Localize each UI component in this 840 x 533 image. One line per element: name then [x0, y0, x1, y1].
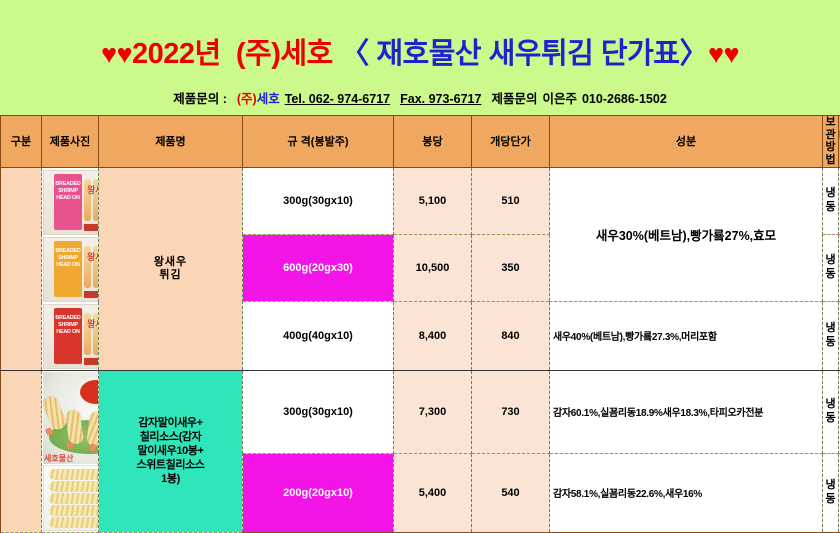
heart-icon: ♥: [723, 39, 739, 69]
cell-product-name-group2: 감자말이새우+ 칠리소스(감자 말이새우10봉+ 스위트칠리소스 1봉): [99, 370, 243, 532]
column-header-unit-price: 개당단가: [472, 116, 550, 168]
contact-tel: Tel. 062- 974-6717: [285, 92, 390, 106]
pack-label-line1: BREADED: [55, 181, 80, 187]
product-name-line4: 스위트칠리소스: [99, 458, 242, 472]
product-name-line1: 감자말이새우+: [99, 416, 242, 430]
product-name-line2: 칠리소스(감자: [99, 430, 242, 444]
product-image-packaged-tray: [43, 465, 99, 531]
pack-korean-text: 왕새우: [87, 183, 99, 196]
column-header-ingredients: 성분: [550, 116, 823, 168]
page-title: ♥♥2022년 (주)세호 〈 재호물산 새우튀김 단가표〉♥♥: [0, 30, 840, 72]
chili-sauce-bowl: [77, 377, 99, 407]
pack-label: BREADED SHRIMP HEAD ON: [54, 174, 82, 230]
pack-label-line3: HEAD ON: [56, 195, 79, 201]
contact-company-name: 세호: [257, 92, 280, 106]
header-row: 구분 제품사진 제품명 규 격(봉발주) 봉당 개당단가 성분 보관 방법 HA…: [1, 116, 840, 168]
price-table: 구분 제품사진 제품명 규 격(봉발주) 봉당 개당단가 성분 보관 방법 HA…: [0, 115, 840, 533]
cell-bongdang: 5,100: [394, 167, 472, 234]
column-header-gubun: 구분: [1, 116, 42, 168]
pack-stripe: [84, 224, 99, 231]
product-image-pack-pink: BREADED SHRIMP HEAD ON: [43, 170, 99, 235]
product-image-plated-dish: 세호물산: [43, 372, 99, 464]
cell-ingredients: 감자60.1%,실꾬리동18.9%새우18.3%,타피오카전분: [550, 370, 823, 453]
cell-bongdang: 7,300: [394, 370, 472, 453]
cell-storage: 냉동: [823, 370, 839, 453]
column-header-storage: 보관 방법: [823, 116, 839, 168]
cell-photo-group2: 세호물산: [42, 370, 99, 532]
header-banner: ♥♥2022년 (주)세호 〈 재호물산 새우튀김 단가표〉♥♥ 제품문의 :(…: [0, 0, 840, 115]
pack-label: BREADED SHRIMP HEAD ON: [54, 241, 82, 297]
price-list-page: ♥♥2022년 (주)세호 〈 재호물산 새우튀김 단가표〉♥♥ 제품문의 :(…: [0, 0, 840, 496]
cell-storage: 냉동: [823, 302, 839, 370]
contact-mobile: 010-2686-1502: [582, 92, 667, 106]
cell-unit-price: 840: [472, 302, 550, 370]
contact-label: 제품문의 :: [173, 92, 227, 106]
pack-stripe: [84, 291, 99, 298]
contact-fax: Fax. 973-6717: [400, 92, 481, 106]
contact-person: 이은주: [542, 92, 577, 106]
cell-storage: 냉동: [823, 234, 839, 301]
pack-label-line1: BREADED: [55, 315, 80, 321]
contact-company-prefix: (주): [237, 92, 257, 106]
cell-product-name-group1: 왕새우 튀김: [99, 167, 243, 370]
cell-ingredients: 새우30%(베트남),빵가룤27%,효모: [550, 167, 823, 302]
cell-spec: 400g(40gx10): [243, 302, 394, 370]
cell-unit-price: 350: [472, 234, 550, 301]
pack-label-line2: SHRIMP: [58, 188, 78, 194]
cell-ingredients: 새우40%(베트남),빵가룤27.3%,머리포함: [550, 302, 823, 370]
heart-icon: ♥: [117, 39, 133, 69]
cell-unit-price: 730: [472, 370, 550, 453]
column-header-bongdang: 봉당: [394, 116, 472, 168]
product-name-line2: 튀김: [99, 269, 242, 281]
cell-unit-price: 540: [472, 453, 550, 532]
storage-label-line2: 방법: [825, 141, 835, 166]
storage-label-line1: 보관: [825, 116, 835, 141]
column-header-photo: 제품사진: [42, 116, 99, 168]
product-photo-shrimp-packs: BREADED SHRIMP HEAD ON: [42, 170, 98, 369]
pack-label-line1: BREADED: [55, 248, 80, 254]
product-name-line5: 1봉): [99, 472, 242, 486]
pack-stripe: [84, 358, 99, 365]
cell-gubun-group2: [1, 370, 42, 532]
product-image-pack-orange: BREADED SHRIMP HEAD ON: [43, 237, 99, 302]
contact-info: 제품문의 :(주)세호Tel. 062- 974-6717Fax. 973-67…: [0, 88, 840, 107]
cell-photo-group1: BREADED SHRIMP HEAD ON: [42, 167, 99, 370]
cell-ingredients: 감자58.1%,실꾬리동22.6%,새우16%: [550, 453, 823, 532]
heart-icon: ♥: [708, 39, 724, 69]
table-body: BREADED SHRIMP HEAD ON: [1, 167, 840, 532]
pack-label-line3: HEAD ON: [56, 329, 79, 335]
title-subject: 〈 재호물산 새우튀김 단가표〉: [340, 38, 708, 70]
table-header: 구분 제품사진 제품명 규 격(봉발주) 봉당 개당단가 성분 보관 방법 HA…: [1, 116, 840, 168]
table-row: 세호물산: [1, 370, 840, 453]
title-company: (주)세호: [236, 38, 333, 70]
product-name-line1: 왕새우: [99, 256, 242, 268]
dish-watermark: 세호물산: [44, 453, 73, 464]
heart-icon: ♥: [101, 39, 117, 69]
column-header-name: 제품명: [99, 116, 243, 168]
cell-bongdang: 10,500: [394, 234, 472, 301]
product-name-line3: 말이새우10봉+: [99, 444, 242, 458]
cell-spec: 200g(20gx10): [243, 453, 394, 532]
cell-storage: 냉동: [823, 453, 839, 532]
title-year: 2022년: [132, 38, 221, 70]
pack-label-line2: SHRIMP: [58, 322, 78, 328]
cell-bongdang: 5,400: [394, 453, 472, 532]
cell-bongdang: 8,400: [394, 302, 472, 370]
cell-unit-price: 510: [472, 167, 550, 234]
pack-label-line2: SHRIMP: [58, 255, 78, 261]
product-image-pack-red: BREADED SHRIMP HEAD ON: [43, 304, 99, 369]
cell-spec: 300g(30gx10): [243, 167, 394, 234]
pack-label: BREADED SHRIMP HEAD ON: [54, 308, 82, 364]
pack-label-line3: HEAD ON: [56, 262, 79, 268]
pack-korean-text: 왕새우: [87, 250, 99, 263]
cell-storage: 냉동: [823, 167, 839, 234]
contact-inquiry-label: 제품문의: [491, 92, 537, 106]
column-header-spec: 규 격(봉발주): [243, 116, 394, 168]
table-row: BREADED SHRIMP HEAD ON: [1, 167, 840, 234]
product-photo-potato-shrimp: 세호물산: [42, 372, 98, 531]
cell-spec: 600g(20gx30): [243, 234, 394, 301]
cell-gubun-group1: [1, 167, 42, 370]
cell-spec: 300g(30gx10): [243, 370, 394, 453]
pack-korean-text: 왕새우: [87, 317, 99, 330]
